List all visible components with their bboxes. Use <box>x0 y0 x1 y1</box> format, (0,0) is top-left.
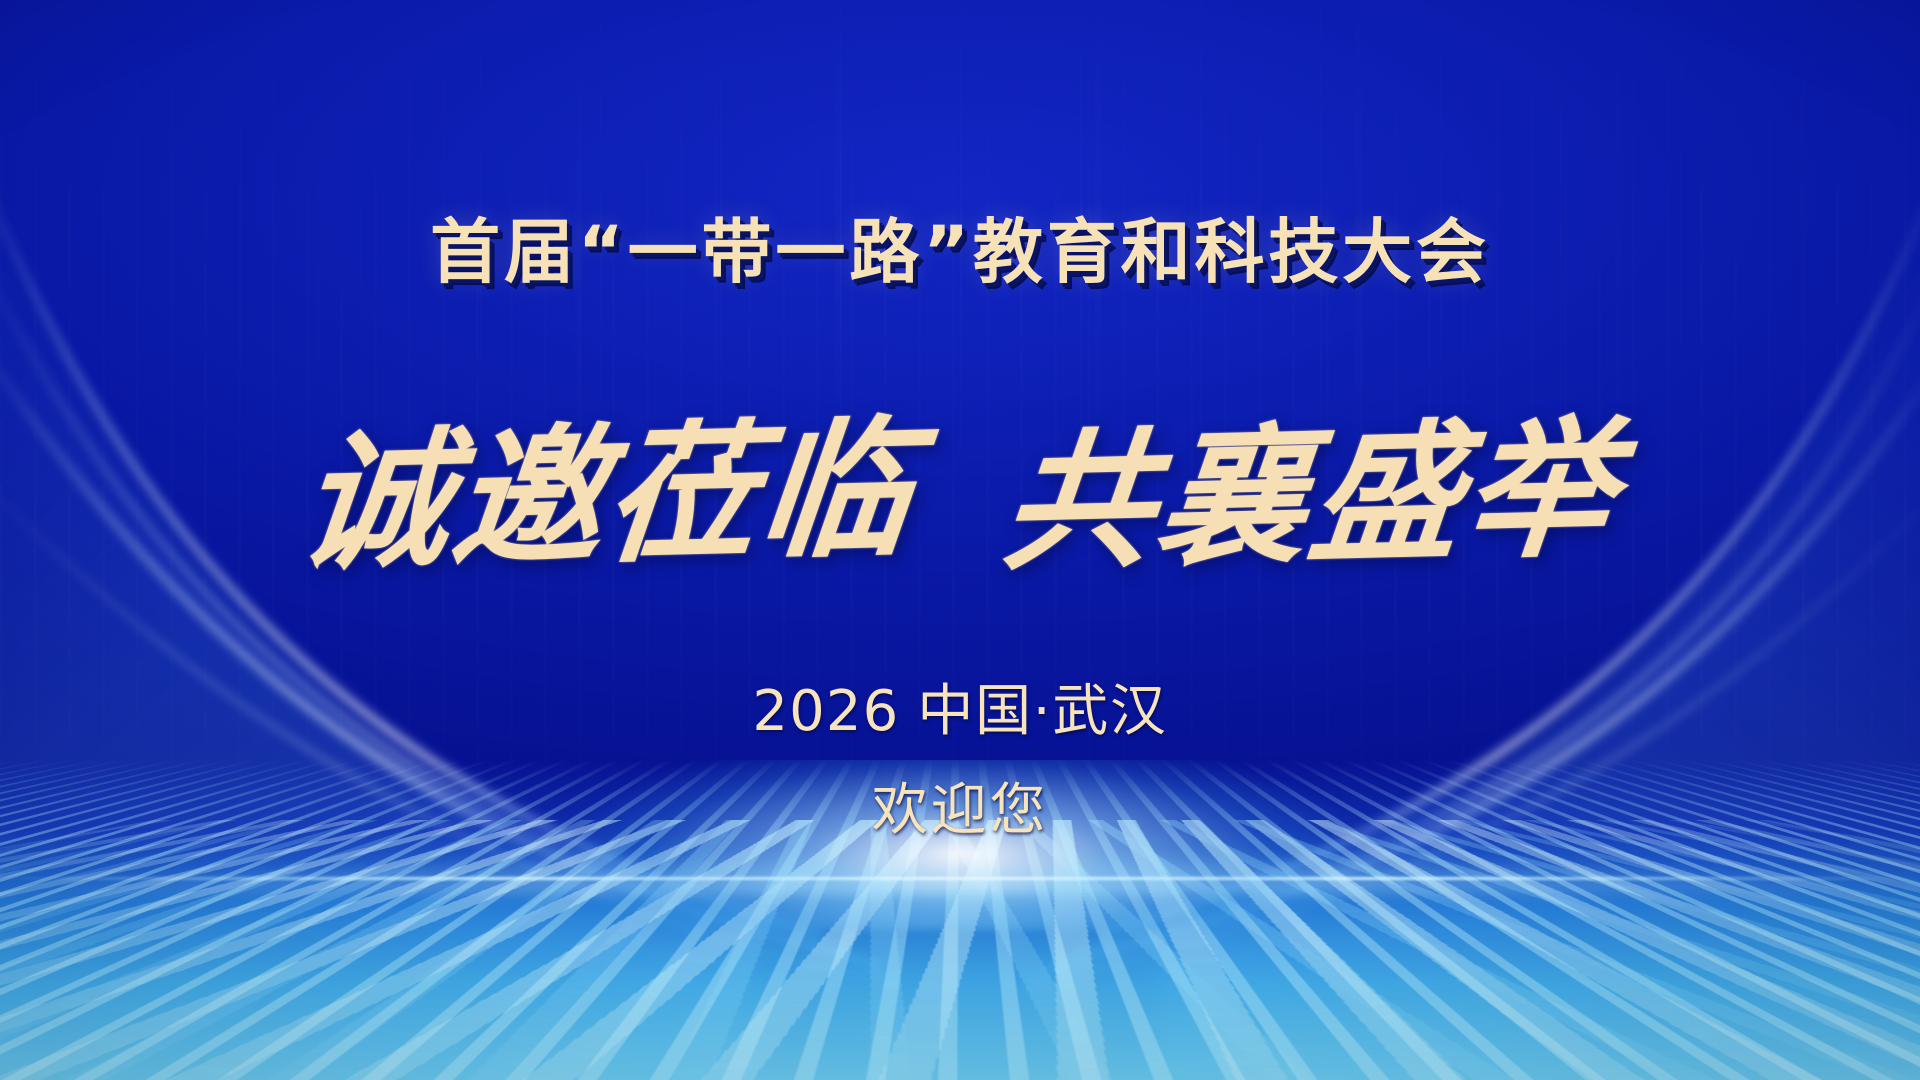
venue-block: 2026中国·武汉 欢迎您 <box>752 666 1167 846</box>
horizon-line <box>0 877 1920 880</box>
welcome-text: 欢迎您 <box>752 765 1167 846</box>
calligraphy-left-phrase: 诚邀莅临 <box>290 368 925 600</box>
conference-invitation-poster: 首届“一带一路”教育和科技大会 诚邀莅临 共襄盛举 2026中国·武汉 欢迎您 <box>0 0 1920 1080</box>
calligraphy-right-phrase: 共襄盛举 <box>995 368 1630 600</box>
venue-line: 2026中国·武汉 <box>752 666 1167 747</box>
conference-title: 首届“一带一路”教育和科技大会 <box>430 196 1490 297</box>
calligraphy-slogan: 诚邀莅临 共襄盛举 <box>302 375 1618 592</box>
poster-text-stack: 首届“一带一路”教育和科技大会 诚邀莅临 共襄盛举 2026中国·武汉 欢迎您 <box>0 0 1920 1080</box>
floor-chevron-shapes <box>0 820 1920 1080</box>
conference-year: 2026 <box>752 679 899 744</box>
conference-location: 中国·武汉 <box>917 679 1167 744</box>
